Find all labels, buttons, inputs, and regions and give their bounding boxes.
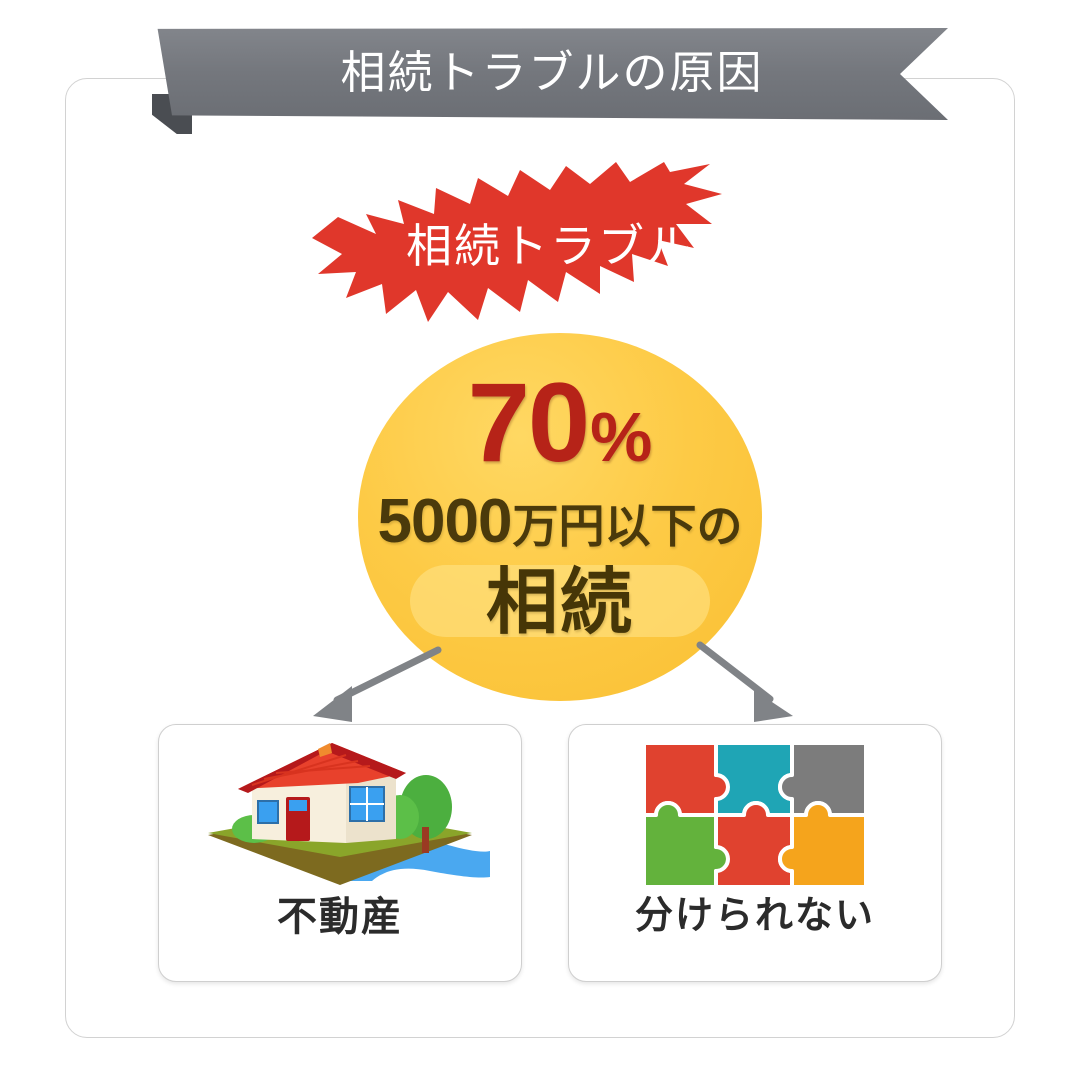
highlight-pill: 相続 <box>410 565 710 637</box>
infographic-canvas: 相続トラブルの原因 相続トラブル 70 % 5000 万円以下の 相続 <box>0 0 1080 1080</box>
jigsaw-puzzle-icon <box>605 735 905 895</box>
page-title: 相続トラブルの原因 <box>340 50 763 95</box>
highlight-word: 相続 <box>410 567 710 639</box>
starburst-badge: 相続トラブル <box>312 162 788 324</box>
house-land-river-icon <box>190 735 490 895</box>
ribbon-body: 相続トラブルの原因 <box>148 28 948 120</box>
card-real-estate[interactable]: 不動産 <box>158 724 522 982</box>
stat-circle: 70 % 5000 万円以下の 相続 <box>358 333 762 701</box>
percent-row: 70 % <box>468 367 653 479</box>
card-indivisible[interactable]: 分けられない <box>568 724 942 982</box>
card-label-real-estate: 不動産 <box>277 897 403 937</box>
percent-value: 70 <box>468 367 589 479</box>
starburst-shape <box>312 162 788 324</box>
title-ribbon: 相続トラブルの原因 <box>148 28 948 132</box>
amount-unit: 万円以下の <box>512 503 742 549</box>
percent-sign: % <box>590 402 652 472</box>
amount-row: 5000 万円以下の <box>378 491 743 553</box>
card-label-indivisible: 分けられない <box>635 897 875 935</box>
amount-value: 5000 <box>378 491 512 553</box>
